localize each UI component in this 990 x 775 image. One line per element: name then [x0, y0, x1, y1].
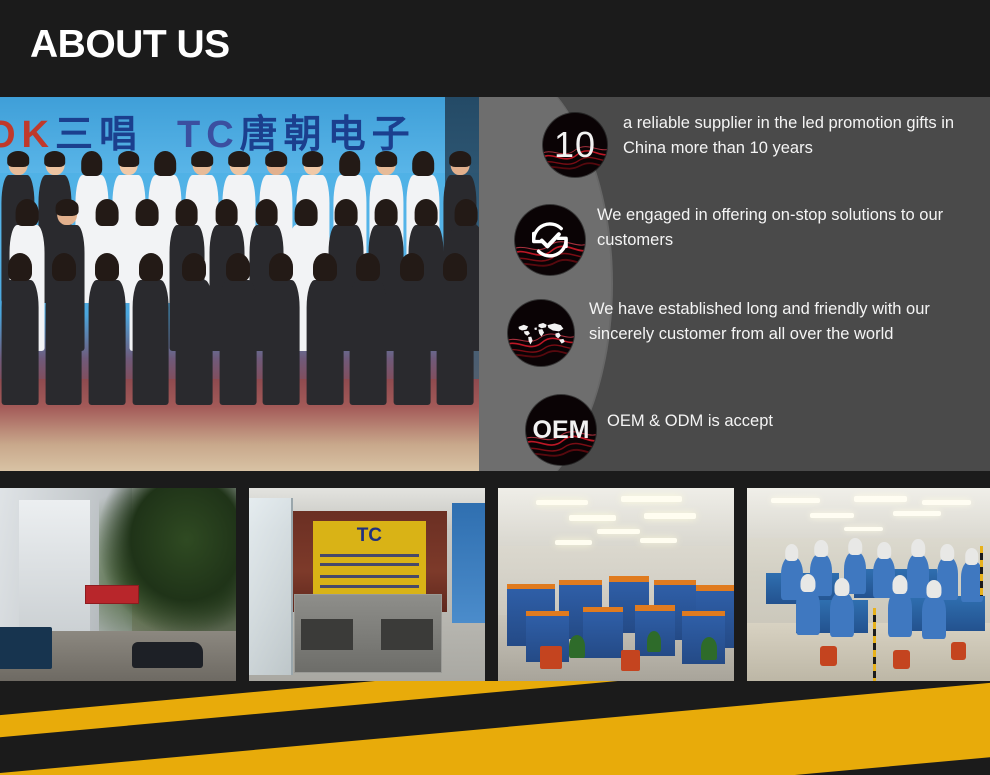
hazard-floor-marking: [980, 546, 983, 596]
ceiling-light: [597, 529, 639, 535]
worker-cap: [965, 548, 979, 564]
team-member: [348, 255, 388, 405]
team-member: [218, 255, 258, 405]
ceiling-light: [555, 540, 593, 545]
features-panel: 10a reliable supplier in the led promoti…: [479, 97, 990, 471]
feature-text: We have established long and friendly wi…: [589, 297, 969, 347]
factory-worker: [796, 588, 820, 634]
worker-cap: [912, 539, 926, 557]
footer-stripes: [0, 681, 990, 775]
work-stool: [893, 650, 910, 669]
years-badge-icon: 10: [543, 113, 607, 177]
ceiling-light: [854, 496, 907, 502]
office-chair: [621, 650, 640, 671]
team-member: [435, 255, 475, 405]
team-member: [87, 255, 127, 405]
cubicle-divider-top: [635, 605, 675, 611]
oem-badge-icon-glyph: OEM: [526, 395, 596, 465]
ceiling-light: [844, 527, 883, 532]
cubicle-divider-top: [583, 607, 623, 613]
potted-plant: [647, 631, 661, 652]
worker-cap: [834, 578, 849, 596]
cubicle-divider-top: [654, 580, 696, 586]
office-chair: [540, 646, 561, 669]
ceiling-light: [810, 513, 854, 518]
ceiling-light: [640, 538, 678, 543]
refresh-check-icon-glyph: [515, 205, 585, 275]
team-member: [131, 255, 171, 405]
factory-worker: [922, 594, 946, 638]
world-map-icon-glyph: [508, 300, 574, 366]
factory-worker: [830, 592, 854, 636]
feature-text: OEM & ODM is accept: [607, 409, 967, 434]
worker-cap: [848, 538, 862, 555]
work-stool: [951, 642, 966, 659]
team-member: [261, 255, 301, 405]
icon-oem-label: OEM: [533, 418, 590, 443]
ceiling-light: [621, 496, 682, 502]
reception-lobby-photo: TC: [249, 488, 485, 681]
refresh-check-icon: [515, 205, 585, 275]
potted-plant: [701, 637, 718, 660]
world-map-icon: [508, 300, 574, 366]
production-line-photo: [747, 488, 990, 681]
team-member: [174, 255, 214, 405]
facility-photo-strip: TC: [0, 488, 990, 681]
reception-logo: TC: [313, 523, 426, 550]
worker-cap: [878, 542, 892, 559]
office-cubicle: [583, 612, 623, 658]
ceiling-light: [644, 513, 696, 519]
cubicle-divider-top: [507, 584, 554, 590]
footer-stripe-2: [0, 681, 990, 775]
worker-cap: [893, 575, 908, 594]
worker-cap: [814, 540, 828, 557]
cubicle-divider-top: [559, 580, 601, 586]
oem-badge-icon: OEM: [526, 395, 596, 465]
world-map-glyph: [515, 310, 568, 356]
years-badge-icon-glyph: 10: [543, 113, 607, 177]
feature-text: a reliable supplier in the led promotion…: [623, 111, 973, 161]
company-team-photo: OK三唱TC唐朝电子: [0, 97, 479, 471]
cubicle-divider-top: [609, 576, 649, 582]
potted-plant: [569, 635, 586, 658]
factory-exterior-photo: [0, 488, 236, 681]
ceiling-light: [771, 498, 820, 504]
office-workspace-photo: [498, 488, 734, 681]
factory-worker: [888, 590, 912, 636]
header-band: ABOUT US: [0, 0, 990, 97]
about-us-page: ABOUT US OK三唱TC唐朝电子 10a reliable supplie…: [0, 0, 990, 775]
feature-text: We engaged in offering on-stop solutions…: [597, 203, 957, 253]
ceiling-light: [536, 500, 588, 506]
work-stool: [820, 646, 837, 665]
worker-cap: [800, 574, 815, 593]
team-member: [392, 255, 432, 405]
hazard-floor-marking: [873, 608, 876, 681]
icon-number-label: 10: [554, 127, 596, 163]
team-member: [0, 255, 40, 405]
ceiling-light: [569, 515, 616, 521]
team-members-group: [0, 143, 479, 433]
team-member: [44, 255, 84, 405]
team-member: [305, 255, 345, 405]
cubicle-divider-top: [682, 611, 724, 617]
page-title: ABOUT US: [30, 20, 230, 70]
ceiling-light: [893, 511, 942, 516]
worker-cap: [941, 544, 955, 561]
cubicle-divider-top: [696, 585, 734, 591]
ceiling-light: [922, 500, 971, 506]
worker-cap: [927, 580, 942, 598]
cubicle-divider-top: [526, 611, 568, 617]
worker-cap: [785, 544, 799, 561]
refresh-check-glyph: [524, 214, 576, 266]
